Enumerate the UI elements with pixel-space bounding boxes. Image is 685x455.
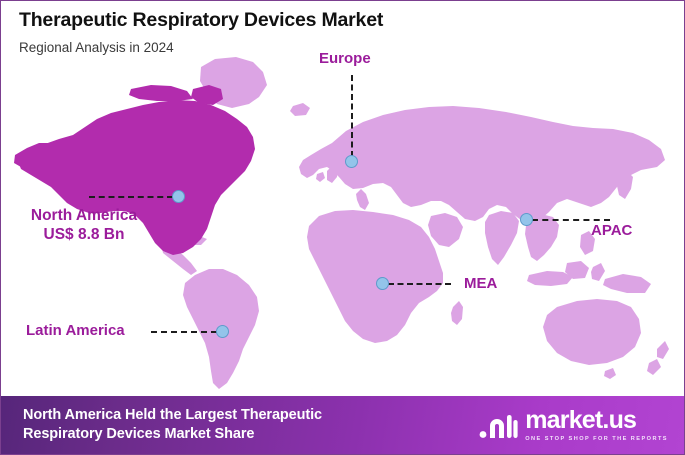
marker-apac[interactable] — [520, 213, 533, 226]
marker-europe[interactable] — [345, 155, 358, 168]
brand-logo[interactable]: market.us ONE STOP SHOP FOR THE REPORTS — [478, 408, 672, 442]
region-name-latin-america: Latin America — [26, 322, 125, 340]
header: Therapeutic Respiratory Devices Market R… — [19, 9, 383, 55]
region-label-north-america: North America US$ 8.8 Bn — [9, 207, 159, 245]
region-value-north-america: US$ 8.8 Bn — [9, 226, 159, 245]
footer-headline-line1: North America Held the Largest Therapeut… — [23, 406, 322, 425]
page-title: Therapeutic Respiratory Devices Market — [19, 9, 383, 32]
region-label-apac: APAC — [591, 222, 632, 240]
market-us-bars-logo-icon — [478, 409, 518, 441]
connector-europe — [351, 75, 353, 157]
infographic-card: Therapeutic Respiratory Devices Market R… — [0, 0, 685, 455]
footer-banner: North America Held the Largest Therapeut… — [1, 396, 685, 454]
region-name-north-america: North America — [9, 207, 159, 226]
marker-north-america[interactable] — [172, 190, 185, 203]
region-label-latin-america: Latin America — [26, 322, 125, 340]
connector-latin-america — [151, 331, 217, 333]
marker-latin-america[interactable] — [216, 325, 229, 338]
brand-tagline: ONE STOP SHOP FOR THE REPORTS — [525, 436, 668, 442]
region-name-apac: APAC — [591, 222, 632, 240]
page-subtitle: Regional Analysis in 2024 — [19, 40, 383, 55]
connector-apac — [532, 219, 610, 221]
region-label-mea: MEA — [464, 275, 497, 293]
connector-mea — [388, 283, 451, 285]
marker-mea[interactable] — [376, 277, 389, 290]
brand-name: market.us — [525, 408, 636, 433]
footer-headline-line2: Respiratory Devices Market Share — [23, 425, 322, 444]
footer-headline: North America Held the Largest Therapeut… — [23, 406, 322, 445]
connector-north-america — [89, 196, 173, 198]
brand-wordmark: market.us ONE STOP SHOP FOR THE REPORTS — [525, 408, 668, 442]
region-name-mea: MEA — [464, 275, 497, 293]
